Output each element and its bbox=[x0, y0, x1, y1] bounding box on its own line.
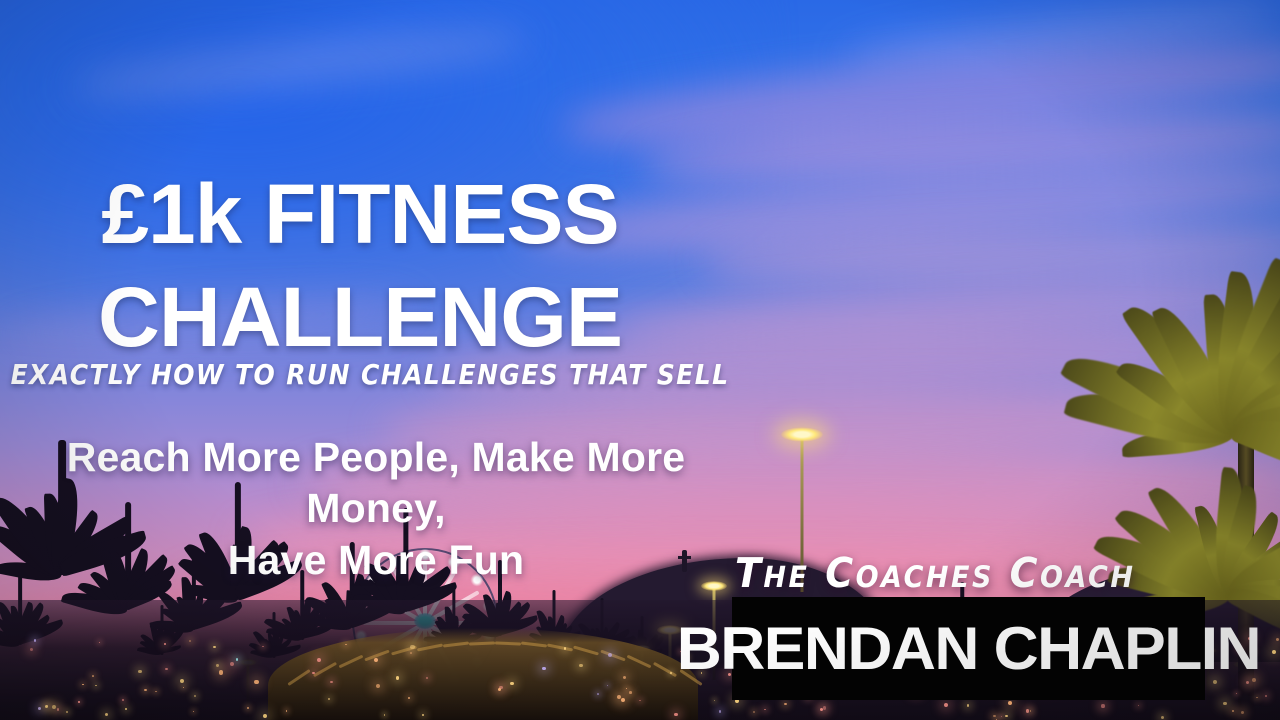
pergola-slat bbox=[547, 643, 573, 651]
pergola-slat bbox=[365, 650, 390, 662]
headline-line-2: CHALLENGE bbox=[0, 277, 727, 358]
brand-script-label: The Coaches Coach bbox=[735, 549, 1135, 597]
tagline: Reach More People, Make More Money, Have… bbox=[0, 432, 752, 586]
tagline-line-2: Have More Fun bbox=[0, 535, 752, 586]
pergola-slat bbox=[600, 650, 625, 662]
pergola-slat bbox=[417, 643, 443, 651]
pergola-slat bbox=[313, 661, 337, 676]
presenter-name: BRENDAN CHAPLIN bbox=[677, 619, 1260, 679]
lamp-light bbox=[781, 427, 823, 442]
pergola-slat bbox=[443, 642, 469, 648]
pergola-slat bbox=[521, 642, 547, 648]
pergola-slat bbox=[469, 642, 495, 646]
pergola-slat bbox=[287, 669, 310, 686]
pergola-slat bbox=[391, 646, 417, 656]
pergola-slat bbox=[653, 661, 677, 676]
poster-canvas: £1k FITNESS CHALLENGE EXACTLY HOW TO RUN… bbox=[0, 0, 1280, 720]
pergola-slat bbox=[339, 655, 364, 669]
pergola-slat bbox=[626, 655, 651, 669]
presenter-name-bar: BRENDAN CHAPLIN bbox=[732, 597, 1205, 700]
subheadline: EXACTLY HOW TO RUN CHALLENGES THAT SELL bbox=[0, 358, 740, 390]
page-title: £1k FITNESS CHALLENGE bbox=[0, 174, 727, 357]
pergola-slat bbox=[495, 642, 521, 646]
headline-line-1: £1k FITNESS bbox=[101, 167, 618, 261]
tagline-line-1: Reach More People, Make More Money, bbox=[0, 432, 752, 535]
pergola-slat bbox=[574, 646, 600, 656]
